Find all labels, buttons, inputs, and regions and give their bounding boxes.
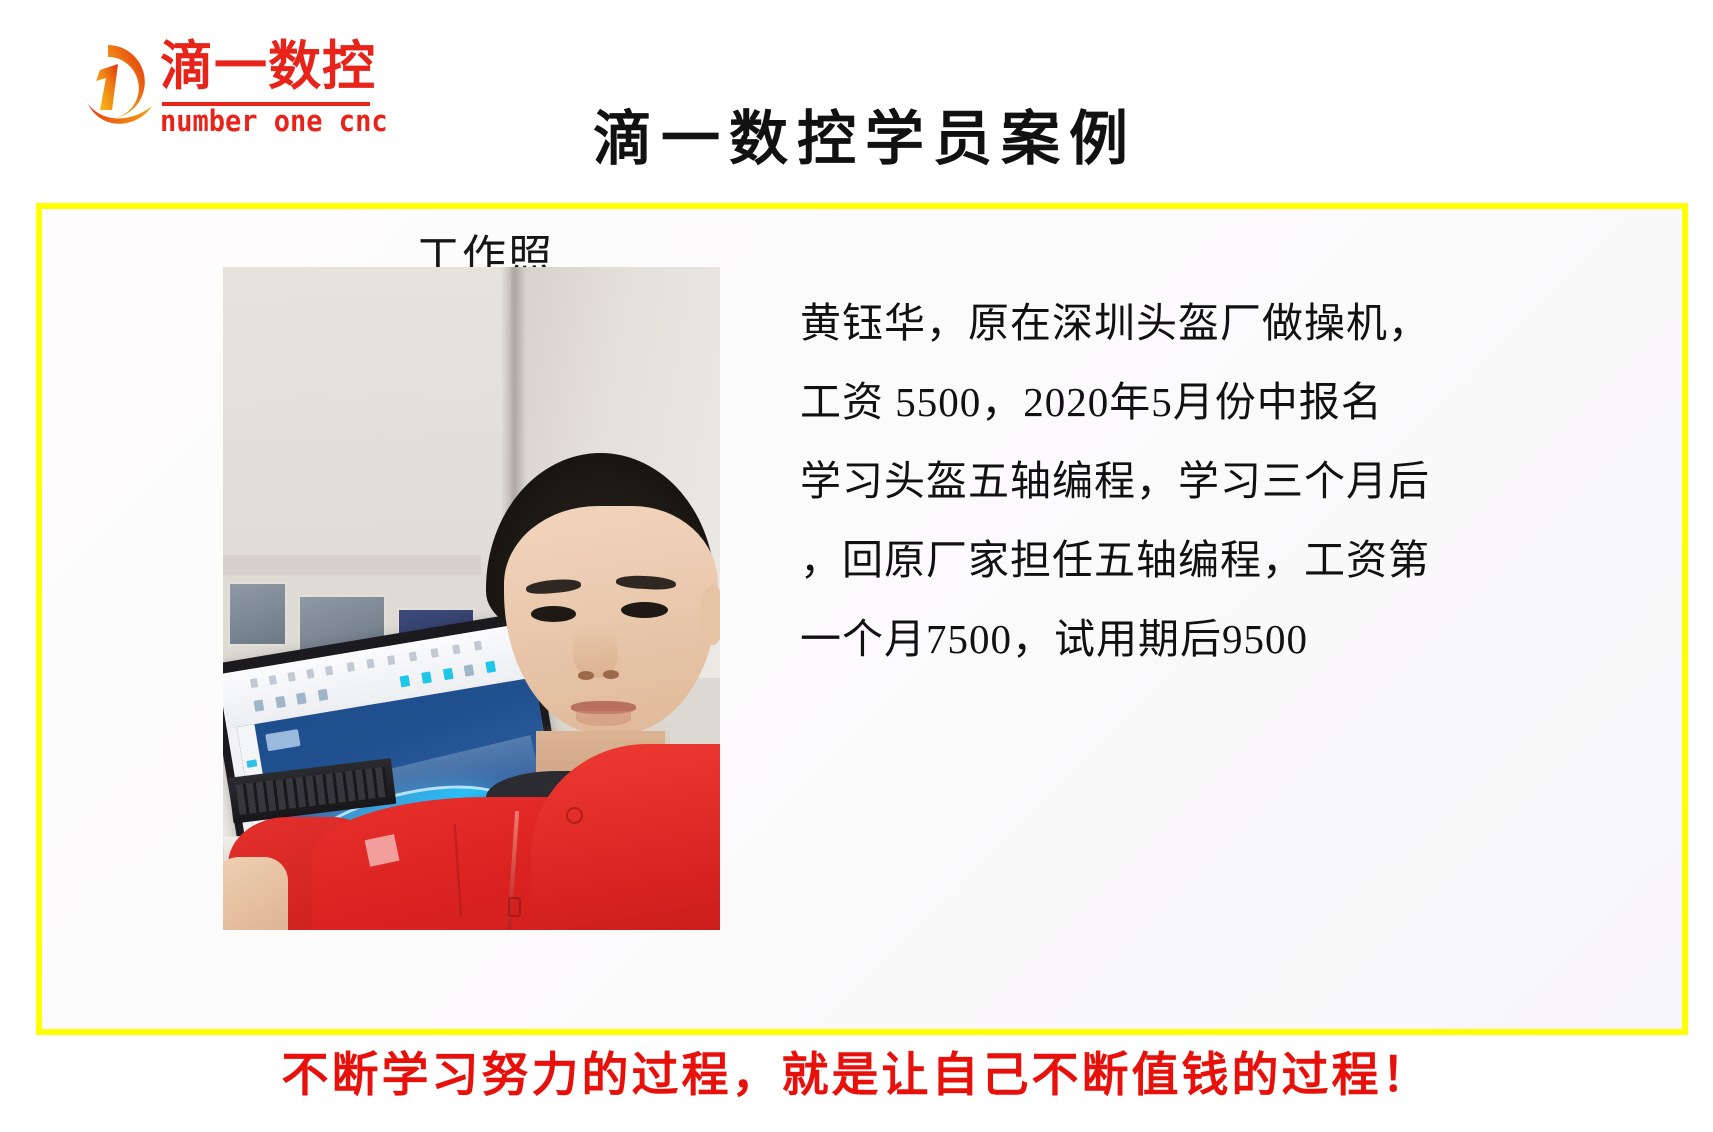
photo-zipper-pull <box>508 897 521 917</box>
student-case-text: 黄钰华，原在深圳头盔厂做操机， 工资 5500，2020年5月份中报名 学习头盔… <box>800 284 1560 679</box>
photo-eye-left <box>531 606 576 621</box>
brand-wordmark: 滴一数控 number one cnc <box>160 36 372 140</box>
slide-header: 滴一数控 number one cnc 滴一数控学员案例 <box>0 0 1713 200</box>
photo-window-1 <box>228 582 287 646</box>
brand-name-cn: 滴一数控 <box>160 38 376 96</box>
brand-name-en: number one cnc <box>160 104 388 141</box>
case-text-line: 学习头盔五轴编程，学习三个月后 <box>800 442 1560 521</box>
case-text-line: 工资 5500，2020年5月份中报名 <box>800 363 1560 442</box>
slide-page: 滴一数控 number one cnc 滴一数控学员案例 工作照 <box>0 0 1713 1132</box>
photo-keyboard-keys <box>235 767 388 815</box>
case-text-line: ，回原厂家担任五轴编程，工资第 <box>800 521 1560 600</box>
photo-nostril-right <box>603 670 619 679</box>
student-work-photo <box>223 267 720 930</box>
footer-slogan: 不断学习努力的过程，就是让自己不断值钱的过程！ <box>0 1046 1713 1104</box>
case-text-line: 黄钰华，原在深圳头盔厂做操机， <box>800 284 1560 363</box>
brand-logo: 滴一数控 number one cnc <box>62 36 372 141</box>
photo-cad-tag <box>265 728 301 751</box>
photo-arm <box>223 857 288 930</box>
page-title: 滴一数控学员案例 <box>440 104 1290 174</box>
case-text-line: 一个月7500，试用期后9500 <box>800 600 1560 679</box>
number-one-swoosh-logo-icon <box>62 40 154 132</box>
photo-person-ear <box>700 585 720 645</box>
